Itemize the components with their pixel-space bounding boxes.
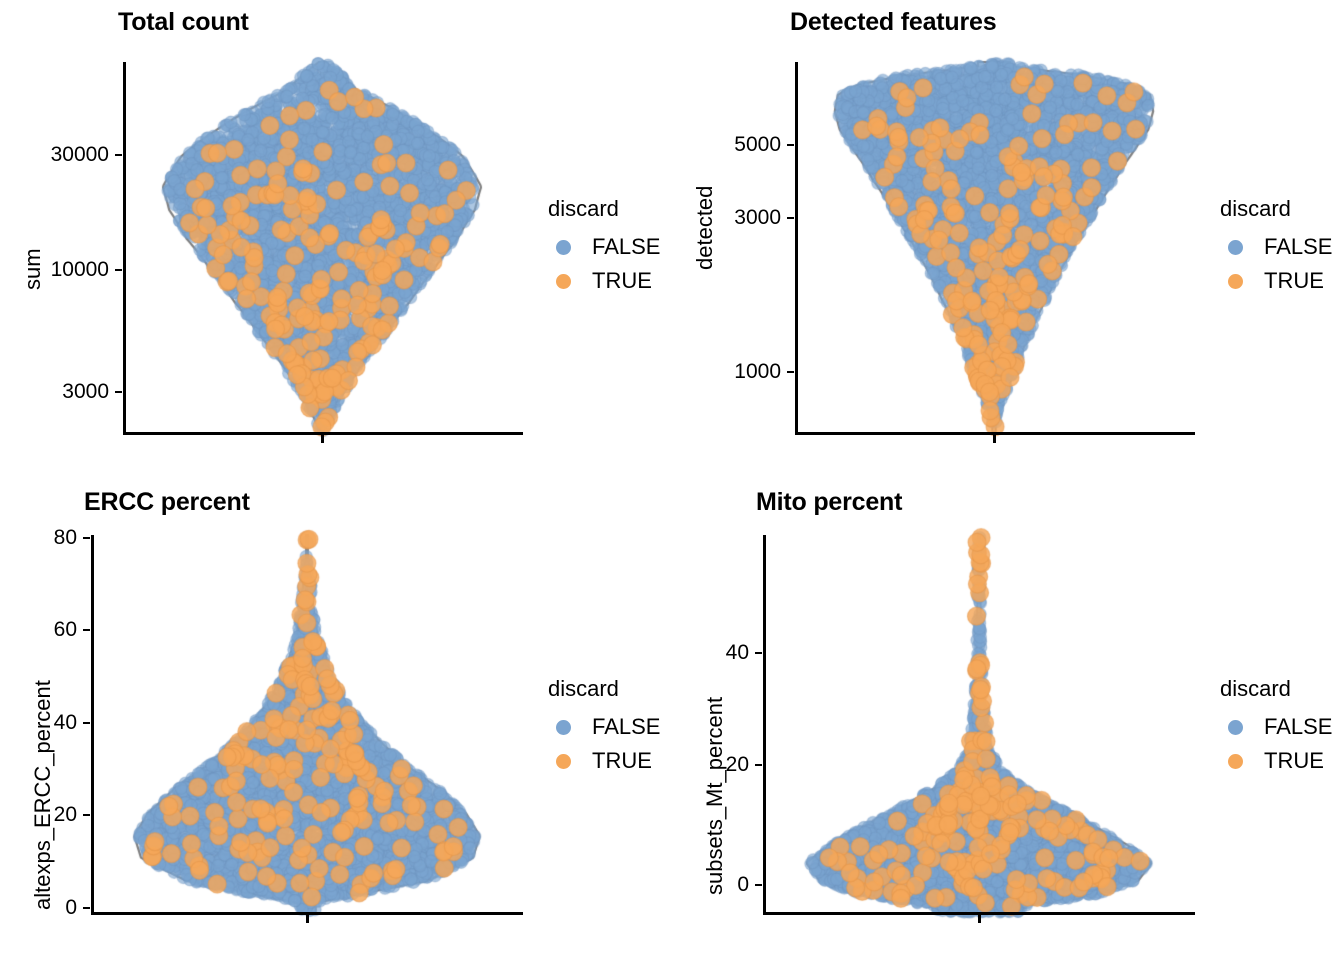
y-axis-line [123,62,126,432]
legend-swatch-true-icon [556,274,571,289]
y-axis-tick-label: 20 [54,804,77,825]
legend-item-false[interactable]: FALSE [1220,712,1344,742]
y-axis-tick [115,154,122,156]
legend-label: FALSE [1264,231,1332,263]
legend-label: FALSE [1264,711,1332,743]
y-axis-line [91,535,94,912]
y-axis-tick [83,907,90,909]
y-axis-tick [755,652,762,654]
y-axis-tick [83,722,90,724]
panel-total-count: Total count30000100003000sumdiscardFALSE… [0,0,672,480]
qc-violin-figure: Total count30000100003000sumdiscardFALSE… [0,0,1344,960]
y-axis-tick-label: 60 [54,619,77,640]
y-axis-tick [83,629,90,631]
y-axis-title: altexps_ERCC_percent [32,680,54,910]
y-axis-tick-label: 40 [726,642,749,663]
y-axis-tick [787,217,794,219]
legend-swatch-false-icon [1228,720,1243,735]
y-axis-tick-label: 5000 [734,134,781,155]
legend-swatch-false-icon [556,240,571,255]
panel-detected-features: Detected features500030001000detecteddis… [672,0,1344,480]
legend-label: TRUE [1264,265,1324,297]
legend-label: TRUE [1264,745,1324,777]
y-axis-line [795,62,798,432]
y-axis-tick-label: 3000 [734,207,781,228]
legend-label: FALSE [592,231,660,263]
panel-mito-percent: Mito percent40200subsets_Mt_percentdisca… [672,480,1344,960]
y-axis-tick-label: 10000 [51,259,109,280]
y-axis-tick [787,371,794,373]
y-axis-tick-label: 20 [726,754,749,775]
x-axis-tick [993,435,996,443]
y-axis-tick [115,269,122,271]
y-axis-tick-label: 0 [737,874,749,895]
y-axis-tick [755,764,762,766]
legend-title: discard [548,678,619,700]
legend-item-true[interactable]: TRUE [1220,266,1344,296]
x-axis-tick [978,915,981,923]
y-axis-title: subsets_Mt_percent [704,697,726,895]
legend-label: TRUE [592,745,652,777]
panel-ercc-percent: ERCC percent806040200altexps_ERCC_percen… [0,480,672,960]
legend-swatch-false-icon [556,720,571,735]
y-axis-title: detected [694,186,716,270]
y-axis-tick-label: 30000 [51,144,109,165]
x-axis-tick [321,435,324,443]
legend-label: TRUE [592,265,652,297]
legend-title: discard [1220,678,1291,700]
legend-title: discard [548,198,619,220]
legend-swatch-true-icon [556,754,571,769]
y-axis-tick [83,814,90,816]
y-axis-line [763,535,766,912]
x-axis-tick [306,915,309,923]
y-axis-tick-label: 40 [54,712,77,733]
legend-item-false[interactable]: FALSE [1220,232,1344,262]
y-axis-tick-label: 1000 [734,361,781,382]
y-axis-tick-label: 3000 [62,381,109,402]
y-axis-tick [787,144,794,146]
y-axis-tick [83,537,90,539]
legend-item-true[interactable]: TRUE [1220,746,1344,776]
legend-title: discard [1220,198,1291,220]
legend-swatch-false-icon [1228,240,1243,255]
legend-swatch-true-icon [1228,274,1243,289]
y-axis-tick-label: 80 [54,527,77,548]
y-axis-tick [755,884,762,886]
legend-label: FALSE [592,711,660,743]
legend-swatch-true-icon [1228,754,1243,769]
y-axis-tick-label: 0 [65,897,77,918]
y-axis-tick [115,391,122,393]
y-axis-title: sum [22,248,44,290]
